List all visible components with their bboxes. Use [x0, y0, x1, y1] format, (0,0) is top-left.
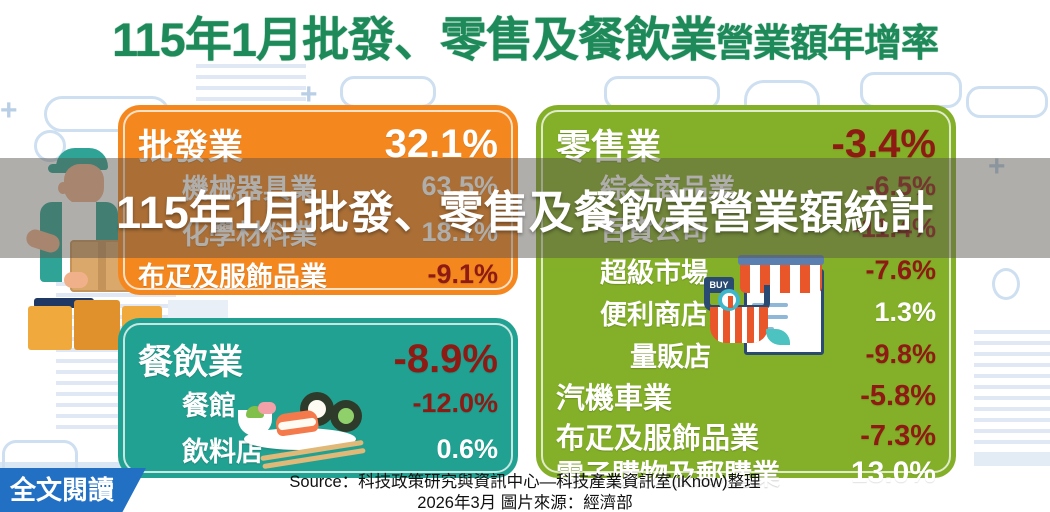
- retail-row-4-value: -9.8%: [865, 339, 936, 370]
- retail-row-5-value: -5.8%: [860, 380, 936, 413]
- shopping-cart-basket: [710, 307, 768, 343]
- food-header-label: 餐飲業: [138, 334, 243, 385]
- retail-row-6-value: -7.3%: [860, 420, 936, 453]
- infographic-canvas: + + + 115年1月批發、零售及餐飲業營業額年增率 批發業: [0, 0, 1050, 512]
- retail-row-6-label: 布疋及服飾品業: [556, 415, 759, 457]
- cloud-outline: [340, 76, 436, 108]
- circle-decor: [992, 268, 1020, 300]
- food-row-1-value: 0.6%: [436, 434, 498, 465]
- worker-hand: [64, 272, 88, 288]
- ginger-slice: [258, 402, 276, 414]
- source-caption: Source：科技政策研究與資訊中心—科技產業資訊室(iKnow)整理 2026…: [0, 472, 1050, 512]
- overlay-title: 115年1月批發、零售及餐飲業營業額統計: [116, 176, 934, 241]
- page-title: 115年1月批發、零售及餐飲業營業額年增率: [0, 14, 1050, 66]
- retail-row-2-value: -7.6%: [865, 255, 936, 286]
- wholesale-row-2: 布疋及服飾品業 -9.1%: [138, 255, 498, 294]
- arch-outline: [744, 80, 820, 107]
- food-header-row: 餐飲業 -8.9%: [138, 334, 498, 385]
- overlay-banner: 115年1月批發、零售及餐飲業營業額統計: [0, 158, 1050, 258]
- pallet-box: [74, 300, 120, 350]
- retail-row-5-label: 汽機車業: [556, 375, 672, 417]
- cloud-outline: [860, 72, 962, 108]
- retail-row-6: 布疋及服飾品業 -7.3%: [556, 415, 936, 457]
- retail-row-3-value: 1.3%: [874, 297, 936, 328]
- plus-decor: +: [0, 96, 18, 126]
- online-shopping-illustration: BUY: [704, 255, 824, 355]
- cloud-outline: [966, 86, 1048, 118]
- wholesale-row-2-label: 布疋及服飾品業: [138, 255, 327, 294]
- page-title-main: 115年1月批發、零售及餐飲業: [112, 13, 716, 66]
- sushi-plate-illustration: [238, 388, 368, 460]
- retail-row-3-label: 便利商店: [600, 293, 708, 332]
- source-line-1: Source：科技政策研究與資訊中心—科技產業資訊室(iKnow)整理: [0, 472, 1050, 493]
- page-title-suffix: 營業額年增率: [716, 23, 938, 65]
- sushi-filling: [338, 408, 354, 424]
- food-header-value: -8.9%: [394, 337, 499, 382]
- building-lines: [974, 330, 1050, 450]
- source-line-2: 2026年3月 圖片來源：經濟部: [0, 493, 1050, 512]
- retail-row-4-label: 量販店: [630, 335, 711, 374]
- wholesale-row-2-value: -9.1%: [427, 259, 498, 290]
- price-circle-icon: [718, 289, 740, 311]
- building-lines: [196, 64, 306, 106]
- food-row-0-label: 餐館: [182, 384, 236, 423]
- food-row-0-value: -12.0%: [412, 388, 498, 419]
- retail-row-5: 汽機車業 -5.8%: [556, 375, 936, 417]
- building-base: [974, 452, 1050, 466]
- pallet-box: [28, 306, 72, 350]
